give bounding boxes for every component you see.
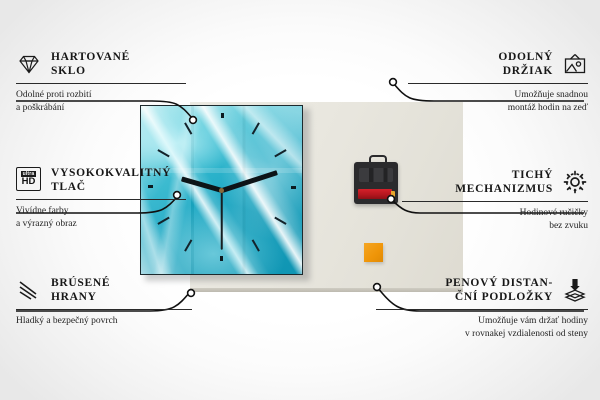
clock-tick <box>221 113 224 118</box>
product-infographic: HARTOVANÉ SKLO Odolné proti rozbití a po… <box>0 0 600 400</box>
diamond-icon <box>16 51 42 77</box>
feature-title-line1: VYSOKOKVALITNÝ <box>51 166 171 180</box>
clock-mechanism <box>354 162 398 204</box>
feature-silent-mechanism: TICHÝ MECHANIZMUS Hodinové ručičky bez z… <box>402 168 588 232</box>
clock-tick <box>291 186 296 189</box>
feature-title-line2: DRŽIAK <box>498 64 553 78</box>
feature-title-line2: TLAČ <box>51 180 171 194</box>
mechanism-housing <box>359 168 393 182</box>
feature-divider <box>16 199 186 200</box>
picture-frame-icon <box>562 51 588 77</box>
ultra-hd-badge-main: HD <box>22 177 36 187</box>
feature-title-line1: HARTOVANÉ <box>51 50 130 64</box>
feature-title-line1: BRÚSENÉ <box>51 276 110 290</box>
second-hand <box>221 190 223 250</box>
feature-title-line2: ČNÍ PODLOŽKY <box>445 290 553 304</box>
ultra-hd-icon: ultra HD <box>16 167 42 193</box>
bevel-lines-icon <box>16 277 42 303</box>
feature-desc-line1: Hladký a bezpečný povrch <box>16 315 192 328</box>
feature-desc-line1: Hodinové ručičky <box>402 207 588 220</box>
feature-title-line1: TICHÝ <box>455 168 553 182</box>
feature-desc-line2: montáž hodin na zeď <box>408 102 588 115</box>
feature-title-line1: ODOLNÝ <box>498 50 553 64</box>
clock-tick <box>220 256 223 261</box>
feature-high-quality-print: ultra HD VYSOKOKVALITNÝ TLAČ Vivídne far… <box>16 166 186 230</box>
feature-desc-line2: a výrazný obraz <box>16 218 186 231</box>
feature-desc-line1: Umožňuje vám držať hodiny <box>376 315 588 328</box>
feature-title-line2: SKLO <box>51 64 130 78</box>
clock-hub <box>219 188 224 193</box>
feature-foam-spacers: PENOVÝ DISTAN- ČNÍ PODLOŽKY Umožňuje vám… <box>376 276 588 340</box>
feature-title-line2: HRANY <box>51 290 110 304</box>
feature-divider <box>408 83 588 84</box>
feature-desc-line2: bez zvuku <box>402 220 588 233</box>
feature-divider <box>16 309 192 310</box>
feature-title-line1: PENOVÝ DISTAN- <box>445 276 553 290</box>
battery <box>358 189 392 199</box>
feature-desc-line1: Odolné proti rozbití <box>16 89 186 102</box>
feature-tempered-glass: HARTOVANÉ SKLO Odolné proti rozbití a po… <box>16 50 186 114</box>
feature-divider <box>376 309 588 310</box>
feature-divider <box>402 201 588 202</box>
feature-desc-line2: v rovnakej vzdialenosti od steny <box>376 328 588 341</box>
stacked-pads-arrow-icon <box>562 277 588 303</box>
feature-title-line2: MECHANIZMUS <box>455 182 553 196</box>
connector-dot-holder <box>390 79 397 86</box>
feature-desc-line1: Vivídne farby <box>16 205 186 218</box>
feature-desc-line1: Umožňuje snadnou <box>408 89 588 102</box>
foam-spacer-pad <box>364 243 383 262</box>
feature-desc-line2: a poškrábání <box>16 102 186 115</box>
gear-icon <box>562 169 588 195</box>
feature-divider <box>16 83 186 84</box>
feature-polished-edges: BRÚSENÉ HRANY Hladký a bezpečný povrch <box>16 276 192 328</box>
feature-durable-holder: ODOLNÝ DRŽIAK Umožňuje snadnou montáž ho… <box>408 50 588 114</box>
mechanism-hanger <box>369 155 387 166</box>
